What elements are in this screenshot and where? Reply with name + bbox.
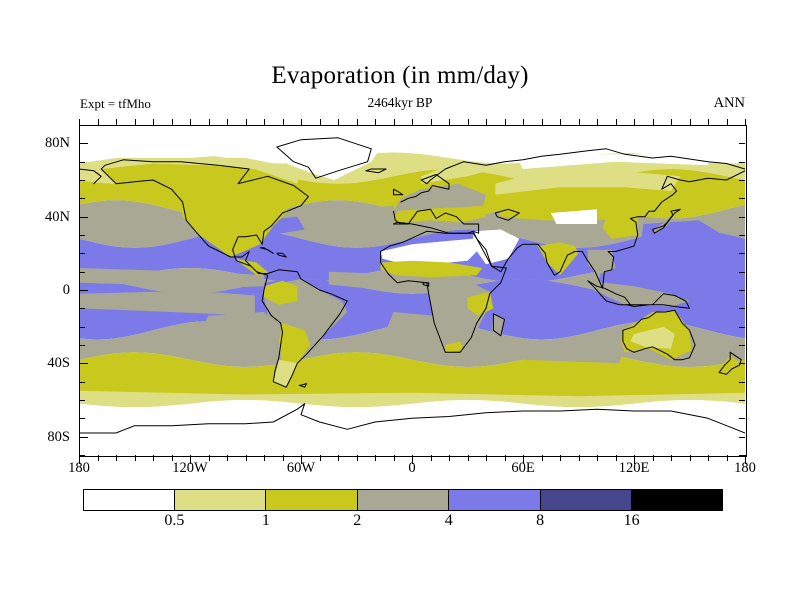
y-axis-label: 0: [18, 282, 70, 298]
x-tick-minor: [468, 119, 469, 125]
x-tick-minor: [579, 455, 580, 461]
x-tick-minor: [153, 455, 154, 461]
y-tick-major: [79, 290, 88, 291]
y-axis-label: 40S: [18, 355, 70, 371]
y-tick-minor: [79, 345, 85, 346]
x-tick-minor: [209, 119, 210, 125]
x-tick-minor: [227, 119, 228, 125]
x-tick-minor: [98, 119, 99, 125]
x-tick-minor: [690, 455, 691, 461]
x-axis-label: 120W: [172, 460, 207, 476]
x-tick-minor: [597, 119, 598, 125]
x-tick-minor: [338, 119, 339, 125]
y-tick-minor: [739, 308, 745, 309]
y-axis-label: 80N: [18, 135, 70, 151]
colorbar-band: [631, 490, 722, 510]
y-tick-minor: [79, 162, 85, 163]
x-tick-minor: [264, 455, 265, 461]
x-tick-minor: [579, 119, 580, 125]
colorbar-separator: [540, 489, 541, 511]
x-tick-minor: [616, 455, 617, 461]
colorbar-separator: [265, 489, 266, 511]
x-tick-minor: [671, 455, 672, 461]
colorbar-tick-label: 4: [445, 512, 453, 530]
x-tick-minor: [246, 119, 247, 125]
colorbar-tick-label: 0.5: [164, 512, 184, 530]
y-tick-minor: [79, 400, 85, 401]
y-tick-minor: [79, 382, 85, 383]
colorbar-separator: [174, 489, 175, 511]
x-tick-minor: [653, 455, 654, 461]
colorbar-band: [357, 490, 448, 510]
x-tick-minor: [708, 455, 709, 461]
season-label: ANN: [714, 95, 745, 111]
colorbar-tick-label: 8: [536, 512, 544, 530]
x-tick-minor: [116, 119, 117, 125]
x-tick-minor: [449, 119, 450, 125]
y-tick-minor: [79, 308, 85, 309]
x-axis-label: 180: [68, 460, 90, 476]
x-axis-label: 180: [734, 460, 756, 476]
x-tick-minor: [264, 119, 265, 125]
y-axis-label: 40N: [18, 209, 70, 225]
x-tick-minor: [616, 119, 617, 125]
x-tick-minor: [542, 455, 543, 461]
x-tick-minor: [653, 119, 654, 125]
y-tick-minor: [739, 400, 745, 401]
x-tick-minor: [560, 455, 561, 461]
x-tick-minor: [394, 455, 395, 461]
colorbar-band: [84, 490, 175, 510]
x-tick-minor: [727, 455, 728, 461]
colorbar-separator: [448, 489, 449, 511]
colorbar-separator: [357, 489, 358, 511]
x-tick-minor: [209, 455, 210, 461]
x-tick-minor: [301, 119, 302, 125]
evaporation-field: [79, 125, 745, 455]
x-tick-minor: [505, 455, 506, 461]
x-tick-minor: [190, 119, 191, 125]
x-tick-minor: [135, 455, 136, 461]
y-tick-minor: [739, 437, 745, 438]
page-title: Evaporation (in mm/day): [0, 61, 800, 91]
colorbar-tick-label: 16: [624, 512, 640, 530]
y-tick-major: [79, 217, 88, 218]
x-tick-minor: [227, 455, 228, 461]
x-tick-minor: [431, 119, 432, 125]
x-axis-label: 60W: [287, 460, 315, 476]
y-tick-minor: [79, 327, 85, 328]
x-tick-minor: [320, 119, 321, 125]
y-tick-minor: [79, 455, 85, 456]
evaporation-figure: Evaporation (in mm/day) 2464kyr BP Expt …: [0, 0, 800, 600]
y-tick-minor: [79, 253, 85, 254]
x-axis-label: 60E: [511, 460, 534, 476]
colorbar-band: [175, 490, 266, 510]
x-tick-minor: [153, 119, 154, 125]
x-tick-minor: [357, 455, 358, 461]
y-tick-minor: [739, 143, 745, 144]
x-tick-minor: [486, 119, 487, 125]
x-tick-minor: [375, 455, 376, 461]
colorbar: [83, 489, 723, 511]
x-tick-minor: [412, 119, 413, 125]
x-tick-minor: [523, 119, 524, 125]
y-tick-minor: [739, 363, 745, 364]
y-tick-minor: [739, 290, 745, 291]
y-tick-minor: [739, 217, 745, 218]
x-tick-minor: [320, 455, 321, 461]
x-tick-minor: [357, 119, 358, 125]
x-tick-minor: [486, 455, 487, 461]
y-tick-minor: [739, 235, 745, 236]
y-tick-minor: [739, 418, 745, 419]
y-tick-minor: [739, 345, 745, 346]
y-tick-major: [79, 437, 88, 438]
x-tick-minor: [116, 455, 117, 461]
colorbar-tick-label: 2: [353, 512, 361, 530]
x-tick-minor: [468, 455, 469, 461]
x-tick-minor: [283, 119, 284, 125]
map-plot-area: [79, 125, 745, 455]
x-tick-minor: [338, 455, 339, 461]
x-tick-minor: [505, 119, 506, 125]
x-tick-minor: [745, 119, 746, 125]
y-tick-minor: [739, 327, 745, 328]
colorbar-band: [540, 490, 631, 510]
x-tick-minor: [560, 119, 561, 125]
x-tick-minor: [246, 455, 247, 461]
experiment-label: Expt = tfMho: [80, 96, 151, 112]
y-tick-minor: [79, 125, 85, 126]
y-tick-minor: [79, 235, 85, 236]
y-axis-label: 80S: [18, 429, 70, 445]
y-tick-minor: [739, 125, 745, 126]
y-tick-minor: [739, 455, 745, 456]
x-tick-minor: [542, 119, 543, 125]
x-tick-minor: [708, 119, 709, 125]
y-tick-minor: [739, 253, 745, 254]
y-tick-minor: [739, 162, 745, 163]
colorbar-tick-label: 1: [262, 512, 270, 530]
y-tick-minor: [739, 382, 745, 383]
x-tick-minor: [597, 455, 598, 461]
x-axis-label: 0: [408, 460, 415, 476]
x-tick-minor: [431, 455, 432, 461]
colorbar-bands: [83, 489, 723, 511]
x-tick-minor: [634, 119, 635, 125]
y-tick-minor: [739, 180, 745, 181]
x-tick-minor: [727, 119, 728, 125]
x-tick-minor: [283, 455, 284, 461]
x-tick-minor: [671, 119, 672, 125]
y-tick-major: [79, 143, 88, 144]
x-tick-minor: [135, 119, 136, 125]
x-tick-minor: [394, 119, 395, 125]
y-tick-major: [79, 363, 88, 364]
x-tick-minor: [375, 119, 376, 125]
colorbar-band: [266, 490, 357, 510]
colorbar-band: [449, 490, 540, 510]
x-axis-label: 120E: [619, 460, 650, 476]
x-tick-minor: [449, 455, 450, 461]
y-tick-minor: [79, 418, 85, 419]
y-tick-minor: [79, 272, 85, 273]
x-tick-minor: [172, 119, 173, 125]
y-tick-minor: [739, 272, 745, 273]
y-tick-minor: [79, 198, 85, 199]
colorbar-separator: [631, 489, 632, 511]
y-tick-minor: [79, 180, 85, 181]
y-tick-minor: [739, 198, 745, 199]
world-evaporation-map: [79, 125, 745, 455]
southern-ocean-band: [79, 371, 745, 397]
x-tick-minor: [98, 455, 99, 461]
x-tick-minor: [690, 119, 691, 125]
